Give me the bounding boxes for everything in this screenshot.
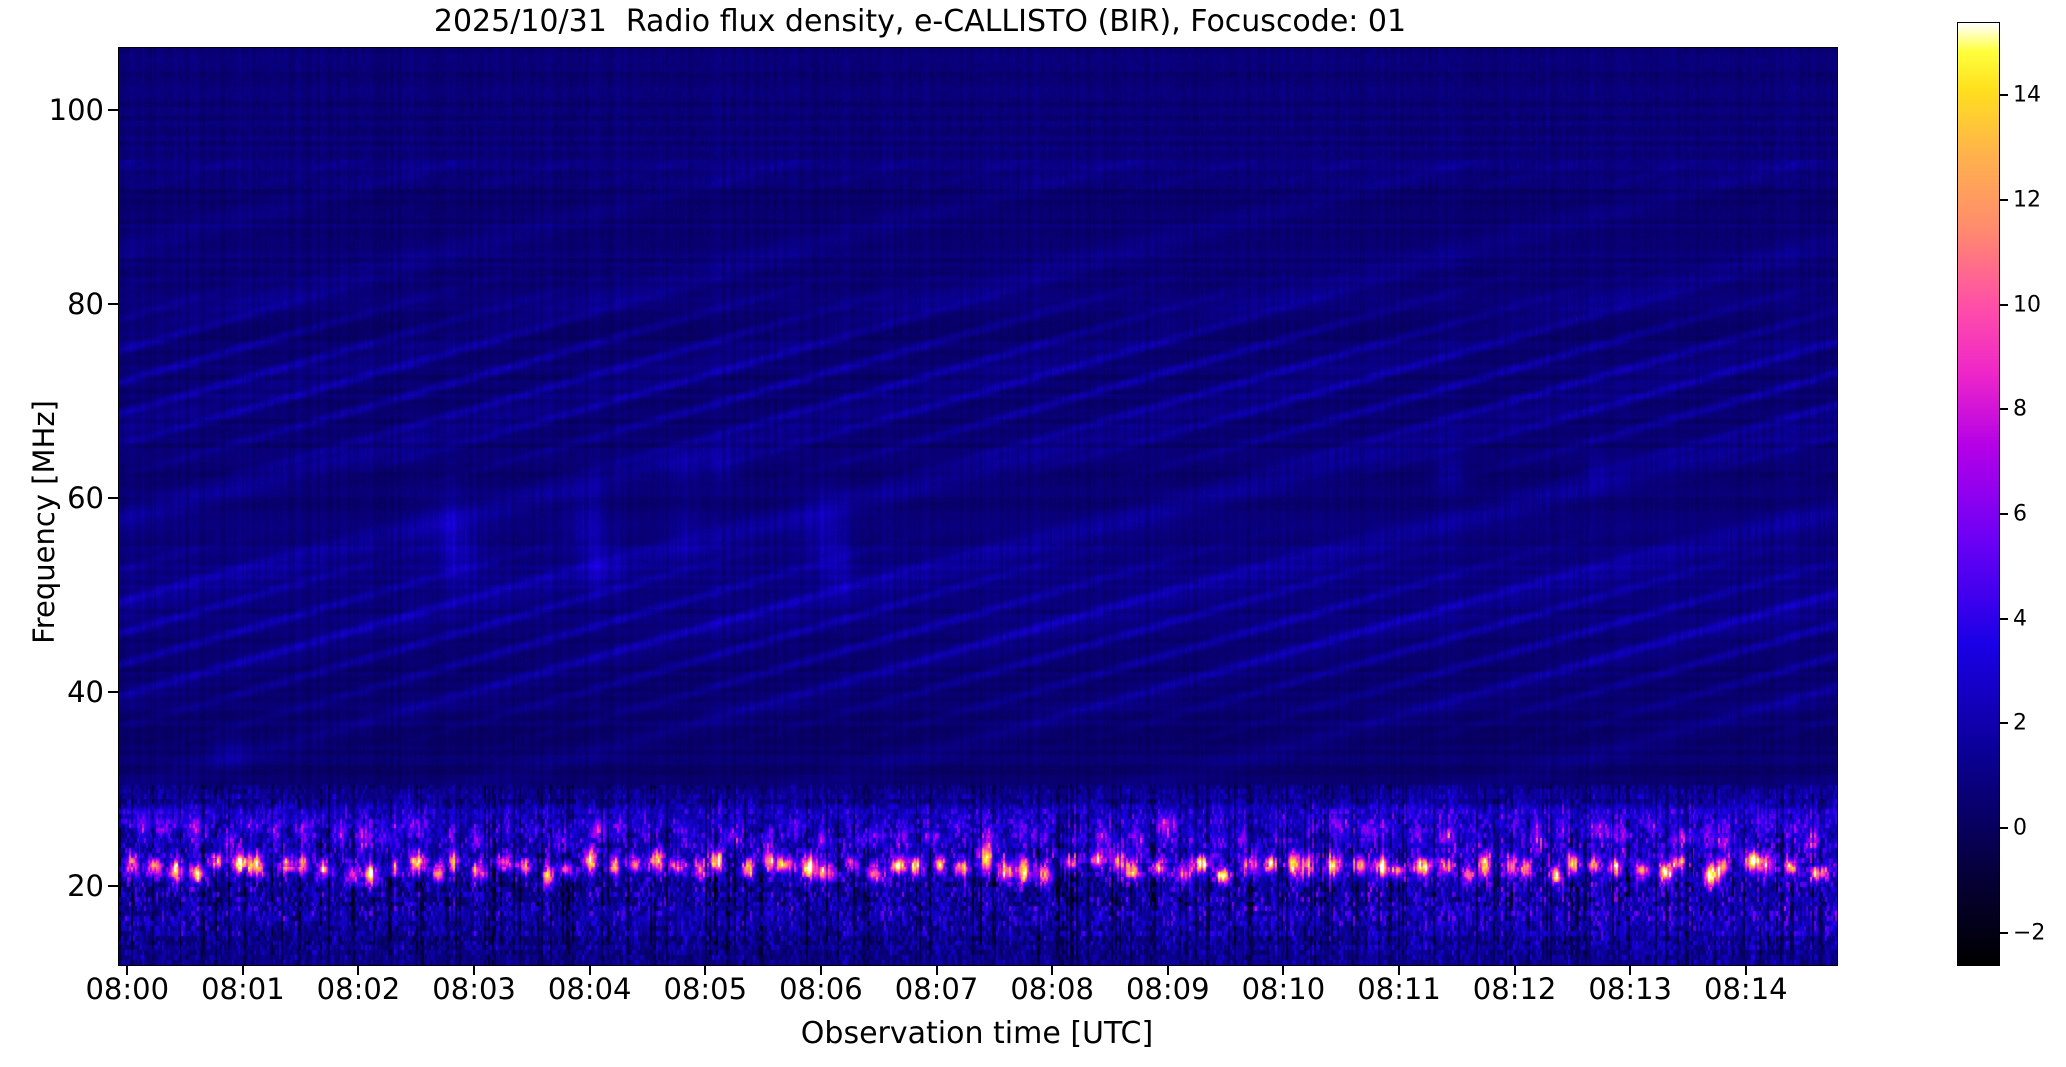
y-axis-tick-label: 60 [67,481,104,515]
colorbar-tick-label: 8 [2013,397,2027,422]
colorbar-tick-label: −2 [2013,920,2045,945]
colorbar-tick-label: 10 [2013,292,2041,317]
colorbar-tick-mark [1999,513,2008,515]
colorbar [1957,22,2000,966]
colorbar-tick-mark [1999,199,2008,201]
spectrogram-plot-area [118,47,1838,966]
spectrogram-image [119,48,1837,965]
y-axis-tick-label: 40 [67,675,104,709]
x-axis-tick-label: 08:11 [1357,972,1441,1006]
x-axis-tick-label: 08:04 [548,972,632,1006]
x-axis-tick-label: 08:00 [85,972,169,1006]
y-axis-tick-mark [108,885,118,887]
colorbar-tick-label: 14 [2013,83,2041,108]
x-axis-tick-label: 08:02 [317,972,401,1006]
x-axis-tick-label: 08:12 [1473,972,1557,1006]
colorbar-tick-mark [1999,408,2008,410]
colorbar-tick-label: 0 [2013,815,2027,840]
y-axis-tick-label: 80 [67,287,104,321]
colorbar-tick-mark [1999,94,2008,96]
colorbar-tick-mark [1999,932,2008,934]
x-axis-tick-label: 08:09 [1126,972,1210,1006]
y-axis-tick-mark [108,109,118,111]
y-axis-tick-label: 100 [49,93,104,127]
x-axis-tick-label: 08:01 [201,972,285,1006]
page-title: 2025/10/31 Radio flux density, e-CALLIST… [0,4,1840,39]
y-axis-tick-mark [108,303,118,305]
y-axis-tick-mark [108,497,118,499]
x-axis-tick-label: 08:08 [1010,972,1094,1006]
x-axis-tick-label: 08:07 [895,972,979,1006]
x-axis-tick-label: 08:14 [1704,972,1788,1006]
y-axis-tick-mark [108,691,118,693]
colorbar-tick-label: 12 [2013,187,2041,212]
colorbar-tick-label: 6 [2013,501,2027,526]
colorbar-tick-label: 4 [2013,606,2027,631]
x-axis-tick-label: 08:10 [1242,972,1326,1006]
colorbar-tick-mark [1999,304,2008,306]
y-axis-tick-label: 20 [67,869,104,903]
x-axis-tick-label: 08:06 [779,972,863,1006]
colorbar-gradient [1958,23,1999,965]
x-axis-tick-label: 08:03 [432,972,516,1006]
x-axis-tick-label: 08:13 [1588,972,1672,1006]
y-axis-label: Frequency [MHz] [27,242,61,802]
radio-spectrogram-figure: 2025/10/31 Radio flux density, e-CALLIST… [0,0,2066,1067]
colorbar-tick-label: 2 [2013,711,2027,736]
colorbar-tick-mark [1999,722,2008,724]
x-axis-label: Observation time [UTC] [118,1016,1836,1051]
x-axis-tick-label: 08:05 [664,972,748,1006]
colorbar-tick-mark [1999,827,2008,829]
colorbar-tick-mark [1999,618,2008,620]
